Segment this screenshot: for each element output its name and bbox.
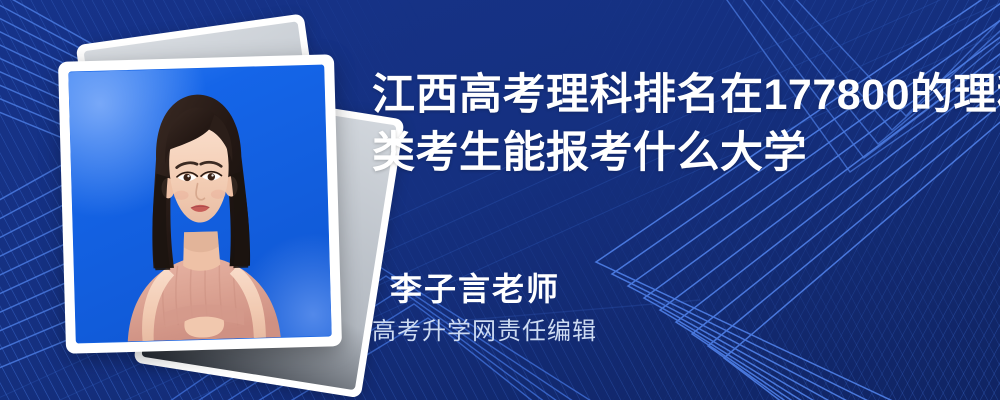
author-name: 李子言老师 (390, 268, 597, 310)
banner-canvas: 江西高考理科排名在177800的理科 类考生能报考什么大学 李子言老师 高考升学… (0, 0, 1000, 400)
headline: 江西高考理科排名在177800的理科 类考生能报考什么大学 (372, 66, 972, 182)
portrait-photo (68, 64, 331, 343)
photo-card-main (58, 54, 342, 354)
headline-line-2: 类考生能报考什么大学 (372, 124, 972, 182)
byline: 李子言老师 高考升学网责任编辑 (390, 268, 597, 350)
author-role: 高考升学网责任编辑 (372, 314, 597, 350)
portrait-photo-stack (48, 28, 348, 373)
headline-line-1: 江西高考理科排名在177800的理科 (372, 66, 972, 124)
